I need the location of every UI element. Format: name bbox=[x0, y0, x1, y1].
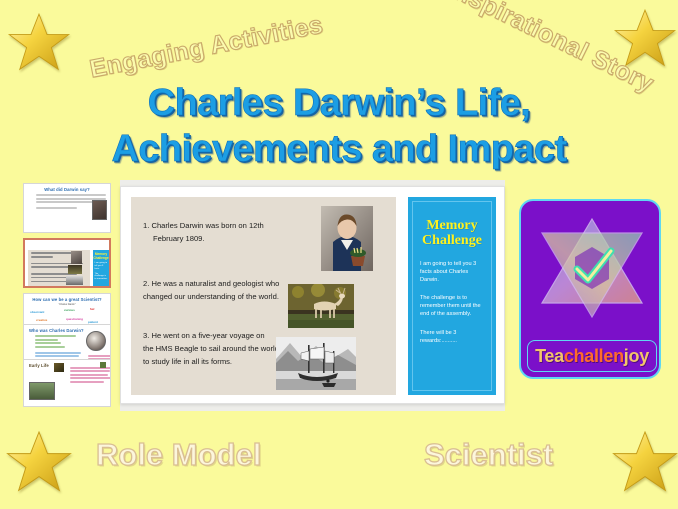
fact-2-line-2: changed our understanding of the world. bbox=[143, 292, 279, 301]
page-title-line-2: Achievements and Impact bbox=[0, 126, 678, 172]
memory-paragraph-2: The challenge is to remember them until … bbox=[420, 294, 484, 318]
list-item[interactable]: What did Darwin say? bbox=[23, 183, 111, 233]
fact-1-line-2: February 1809. bbox=[143, 232, 328, 245]
main-slide[interactable]: 1. Charles Darwin was born on 12th Febru… bbox=[120, 186, 505, 404]
logo-name-part-3: joy bbox=[624, 346, 649, 366]
logo-name-plate: Teachallenjoy bbox=[527, 340, 657, 372]
fact-3-number: 3. bbox=[143, 331, 149, 340]
banner-scientist: Scientist bbox=[424, 437, 553, 473]
fact-1-line-1: Charles Darwin was born on 12th bbox=[151, 221, 263, 230]
memory-title-line-1: Memory bbox=[426, 218, 477, 233]
thumbnail-title: What did Darwin say? bbox=[27, 187, 107, 192]
slide-thumbnail-strip[interactable]: What did Darwin say? MemoryC bbox=[16, 183, 112, 407]
thumbnail-title: How can we be a great Scientist? bbox=[27, 297, 107, 302]
logo-wordmark: Teachallenjoy bbox=[535, 346, 649, 367]
fact-1-number: 1. bbox=[143, 221, 149, 230]
fact-3-line-1: He went on a five-year voyage on bbox=[151, 331, 264, 340]
list-item-selected[interactable]: MemoryChallenge I am going to tell you 3… bbox=[23, 238, 111, 288]
slide-fact-panel: 1. Charles Darwin was born on 12th Febru… bbox=[131, 197, 396, 395]
logo-name-part-2: challen bbox=[564, 346, 624, 366]
darwin-as-a-boy-portrait bbox=[321, 206, 373, 271]
banner-engaging-activities: Engaging Activities bbox=[87, 11, 325, 85]
logo-name-part-1: Tea bbox=[535, 346, 564, 366]
hms-beagle-engraving bbox=[276, 337, 356, 390]
memory-challenge-panel: Memory Challenge I am going to tell you … bbox=[408, 197, 496, 395]
thumbnail-portrait bbox=[86, 331, 106, 351]
fact-2-line-1: He was a naturalist and geologist who bbox=[151, 279, 279, 288]
memory-title-line-2: Challenge bbox=[422, 233, 482, 248]
thumbnail-photo bbox=[92, 200, 107, 220]
memory-challenge-title: Memory Challenge bbox=[413, 218, 491, 248]
page-title-line-1: Charles Darwin’s Life, bbox=[0, 80, 678, 126]
poster-page: Engaging Activities Inspirational Story … bbox=[0, 0, 678, 509]
thumbnail-memory-panel: MemoryChallenge I am going to tell you 3… bbox=[93, 250, 109, 286]
thumbnail-fact-panel bbox=[28, 250, 90, 286]
thumbnail-leaf-icon bbox=[100, 362, 106, 368]
deer-photo bbox=[288, 284, 354, 328]
fact-3-line-3: to study life in all its forms. bbox=[143, 357, 232, 366]
slide-bottom-edge bbox=[120, 404, 505, 411]
page-title: Charles Darwin’s Life, Achievements and … bbox=[0, 80, 678, 172]
fact-item-1: 1. Charles Darwin was born on 12th Febru… bbox=[143, 219, 328, 245]
thumbnail-photo bbox=[29, 382, 55, 400]
teachallenjoy-logo: Teachallenjoy bbox=[519, 199, 661, 379]
fact-2-number: 2. bbox=[143, 279, 149, 288]
memory-paragraph-1: I am going to tell you 3 facts about Cha… bbox=[420, 260, 484, 284]
fact-3-line-2: the HMS Beagle to sail around the world bbox=[143, 344, 279, 353]
banner-role-model: Role Model bbox=[96, 437, 261, 473]
memory-paragraph-3: There will be 3 rewards:.......... bbox=[420, 329, 484, 345]
list-item[interactable]: Early Life bbox=[23, 359, 111, 407]
six-pointed-star-with-checkmark-icon bbox=[531, 207, 653, 329]
thumbnail-decor-icon bbox=[54, 363, 64, 372]
